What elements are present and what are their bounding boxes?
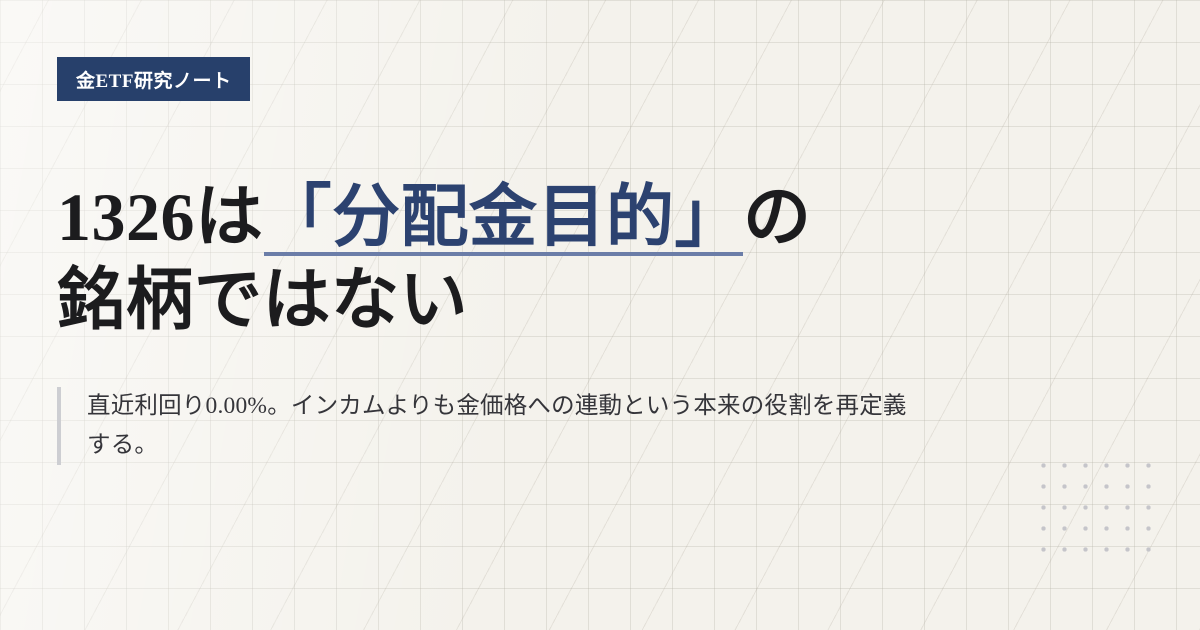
- headline-line-2: 銘柄ではない: [57, 262, 468, 338]
- headline-highlight: 「分配金目的」: [264, 179, 744, 259]
- page-subtitle: 直近利回り0.00%。インカムよりも金価格への連動という本来の役割を再定義する。: [57, 387, 927, 465]
- hero-card: 金ETF研究ノート 1326は「分配金目的」の 銘柄ではない 直近利回り0.00…: [0, 0, 1200, 630]
- category-badge-label: 金ETF研究ノート: [76, 66, 231, 93]
- headline-lead: 1326は: [57, 179, 264, 255]
- page-title: 1326は「分配金目的」の 銘柄ではない: [57, 176, 957, 342]
- headline-tail: の: [743, 179, 812, 255]
- category-badge: 金ETF研究ノート: [57, 57, 250, 101]
